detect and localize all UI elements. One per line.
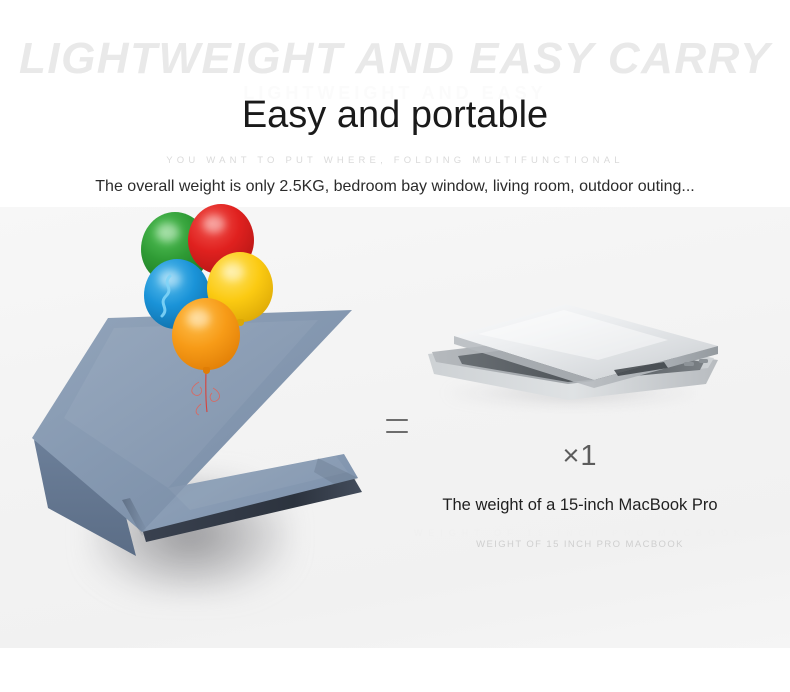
product-detail-page: LIGHTWEIGHT AND EASY CARRY LIGHTWEIGHT A… (0, 0, 790, 692)
laptop-svg (418, 298, 728, 413)
equals-bar-top (386, 419, 408, 421)
equals-icon (386, 419, 410, 441)
string-curl-3 (192, 382, 202, 395)
weight-comparison-caps-ghost: WEIGHT OF 15 INCH PRO MACBOOK (410, 528, 750, 538)
quantity-multiplier: ×1 (430, 440, 730, 473)
string-curl-5 (196, 404, 201, 415)
equals-bar-bottom (386, 431, 408, 433)
laptop-port-1 (684, 362, 694, 366)
macbook-pro-image (418, 298, 728, 413)
blue-balloon-ribbon (150, 272, 196, 322)
weight-comparison-caps: WEIGHT OF 15 INCH PRO MACBOOK (410, 539, 750, 550)
footer-spacer (0, 648, 790, 692)
orange-balloon-knot (203, 367, 210, 374)
string-curl-4 (210, 388, 219, 401)
laptop-port-2 (699, 359, 708, 363)
weight-comparison-label: The weight of a 15-inch MacBook Pro (410, 496, 750, 515)
